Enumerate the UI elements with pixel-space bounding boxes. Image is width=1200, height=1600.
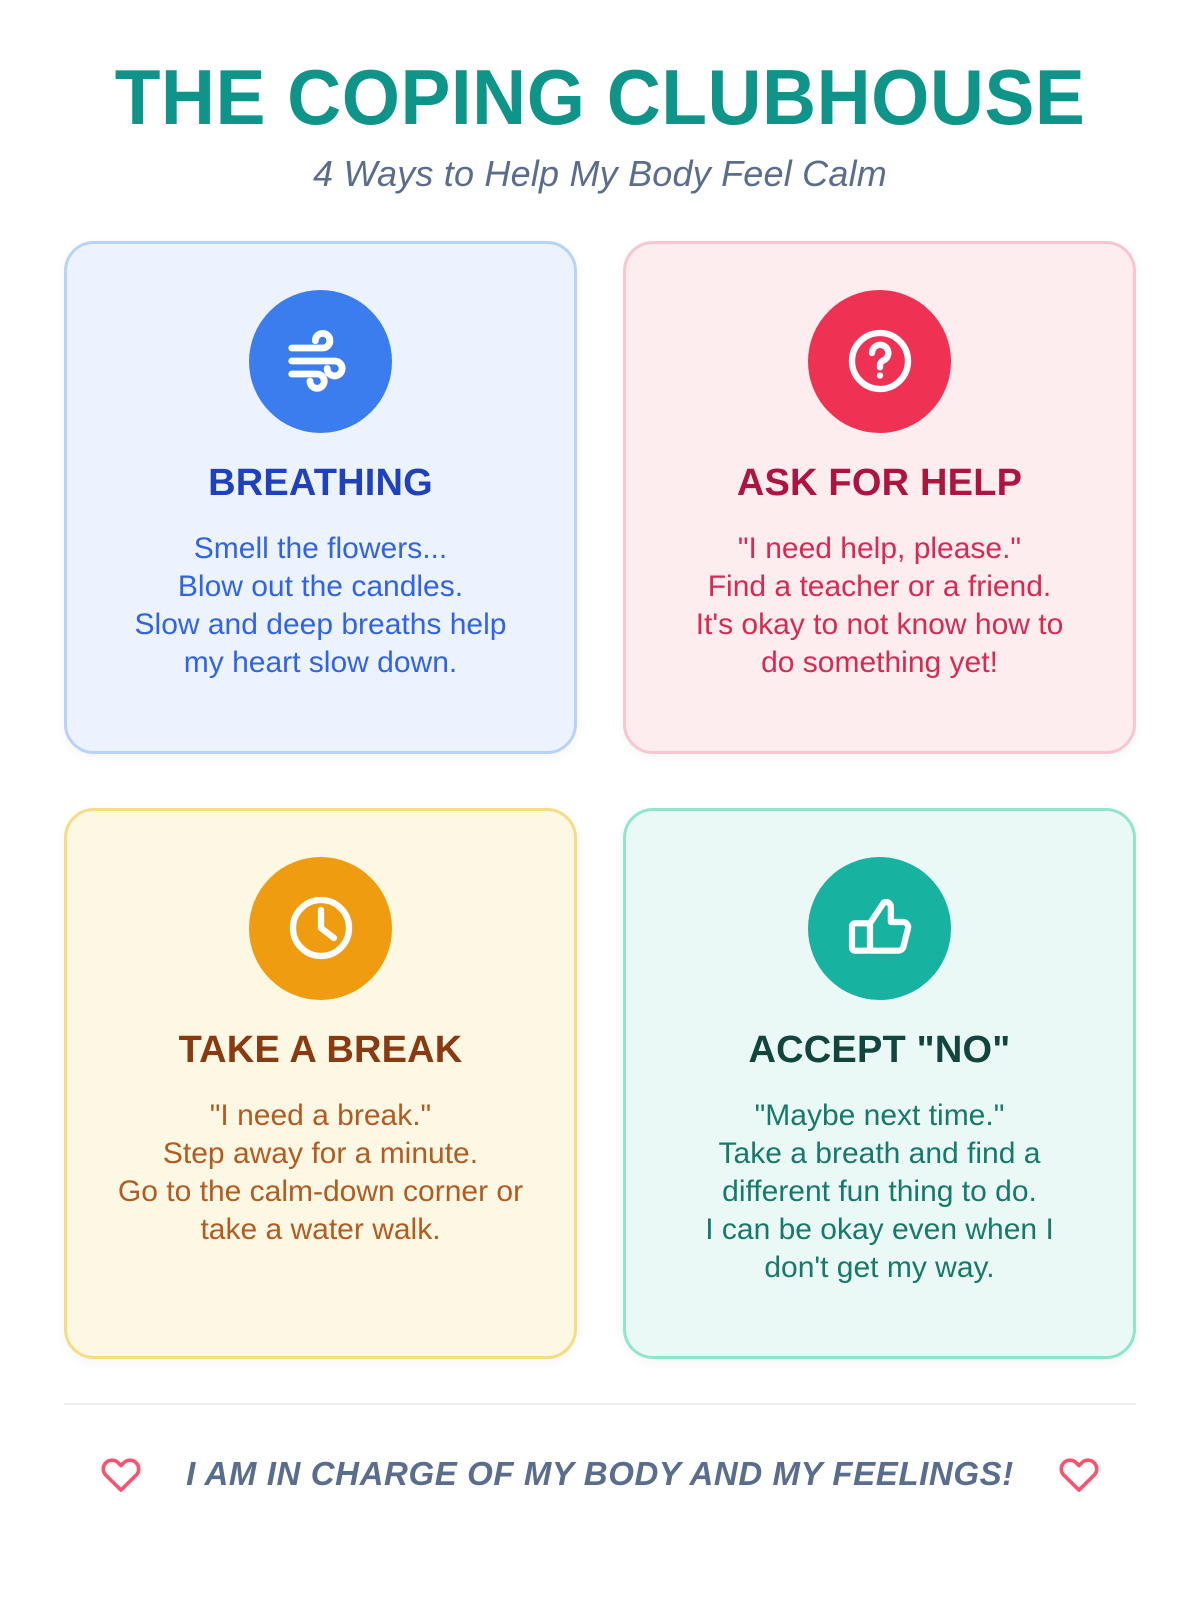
breathing-icon-badge	[249, 290, 392, 433]
card-body-take-a-break: "I need a break." Step away for a minute…	[118, 1097, 523, 1248]
wind-icon	[282, 322, 360, 400]
card-body-breathing: Smell the flowers... Blow out the candle…	[135, 530, 507, 681]
card-body-line: It's okay to not know how to	[696, 606, 1064, 644]
question-mark-circle-icon	[840, 321, 920, 401]
poster-root: THE COPING CLUBHOUSE 4 Ways to Help My B…	[0, 0, 1200, 1600]
card-body-line: "Maybe next time."	[705, 1097, 1054, 1135]
card-title-breathing: BREATHING	[208, 463, 433, 505]
card-body-line: Go to the calm-down corner or	[118, 1173, 523, 1211]
ask-for-help-icon-badge	[808, 290, 951, 433]
card-body-line: I can be okay even when I	[705, 1211, 1054, 1249]
accept-no-icon-badge	[808, 857, 951, 1000]
card-body-line: "I need a break."	[118, 1097, 523, 1135]
card-body-line: Take a breath and find a	[705, 1135, 1054, 1173]
heart-icon	[1056, 1451, 1102, 1497]
poster-footer: I AM IN CHARGE OF MY BODY AND MY FEELING…	[64, 1403, 1136, 1497]
card-title-take-a-break: TAKE A BREAK	[179, 1030, 463, 1072]
coping-strategy-grid: BREATHING Smell the flowers... Blow out …	[64, 241, 1136, 1359]
card-title-accept-no: ACCEPT "NO"	[748, 1030, 1010, 1072]
card-body-accept-no: "Maybe next time." Take a breath and fin…	[705, 1097, 1054, 1286]
card-body-line: "I need help, please."	[696, 530, 1064, 568]
poster-header: THE COPING CLUBHOUSE 4 Ways to Help My B…	[64, 56, 1136, 195]
card-body-line: Blow out the candles.	[135, 568, 507, 606]
card-body-ask-for-help: "I need help, please." Find a teacher or…	[696, 530, 1064, 681]
card-take-a-break[interactable]: TAKE A BREAK "I need a break." Step away…	[64, 808, 577, 1359]
card-body-line: Smell the flowers...	[135, 530, 507, 568]
page-title: THE COPING CLUBHOUSE	[85, 56, 1114, 139]
card-body-line: don't get my way.	[705, 1249, 1054, 1287]
heart-icon	[98, 1451, 144, 1497]
card-accept-no[interactable]: ACCEPT "NO" "Maybe next time." Take a br…	[623, 808, 1136, 1359]
clock-icon	[281, 888, 361, 968]
card-body-line: my heart slow down.	[135, 644, 507, 682]
take-a-break-icon-badge	[249, 857, 392, 1000]
card-title-ask-for-help: ASK FOR HELP	[737, 463, 1022, 505]
thumbs-up-icon	[840, 888, 920, 968]
affirmation-text: I AM IN CHARGE OF MY BODY AND MY FEELING…	[186, 1455, 1014, 1493]
card-breathing[interactable]: BREATHING Smell the flowers... Blow out …	[64, 241, 577, 754]
card-body-line: do something yet!	[696, 644, 1064, 682]
page-subtitle: 4 Ways to Help My Body Feel Calm	[64, 153, 1136, 195]
card-body-line: take a water walk.	[118, 1211, 523, 1249]
card-body-line: Slow and deep breaths help	[135, 606, 507, 644]
card-body-line: Step away for a minute.	[118, 1135, 523, 1173]
card-ask-for-help[interactable]: ASK FOR HELP "I need help, please." Find…	[623, 241, 1136, 754]
card-body-line: Find a teacher or a friend.	[696, 568, 1064, 606]
card-body-line: different fun thing to do.	[705, 1173, 1054, 1211]
